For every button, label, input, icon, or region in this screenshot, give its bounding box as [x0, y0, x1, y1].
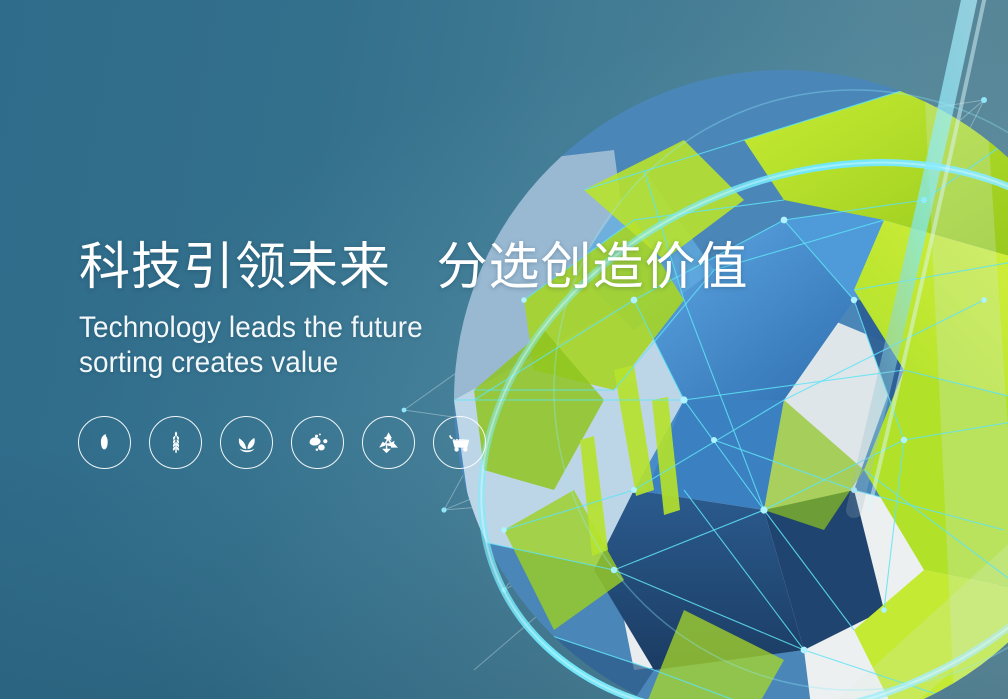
rice-grain-icon [92, 430, 118, 456]
banner-root: 科技引领未来 分选创造价值 Technology leads the futur… [0, 0, 1008, 699]
recycle-icon [374, 428, 403, 457]
icon-circle-recycle[interactable] [362, 416, 415, 469]
icon-circle-rice-grain[interactable] [78, 416, 131, 469]
icon-circle-mining-cart[interactable] [433, 416, 486, 469]
wheat-icon [162, 429, 190, 457]
headline-block: 科技引领未来 分选创造价值 Technology leads the futur… [79, 236, 779, 380]
subtitle-english: Technology leads the future sorting crea… [79, 310, 730, 380]
mining-cart-icon [445, 428, 475, 458]
icon-circle-leaves[interactable] [220, 416, 273, 469]
icon-circle-wheat[interactable] [149, 416, 202, 469]
industry-icon-row [78, 416, 486, 469]
nuts-icon [303, 428, 333, 458]
leaves-icon [232, 428, 262, 458]
headline-chinese: 科技引领未来 分选创造价值 [79, 236, 779, 298]
icon-circle-nuts[interactable] [291, 416, 344, 469]
subtitle-line-1: Technology leads the future [79, 310, 730, 345]
subtitle-line-2: sorting creates value [79, 345, 730, 380]
